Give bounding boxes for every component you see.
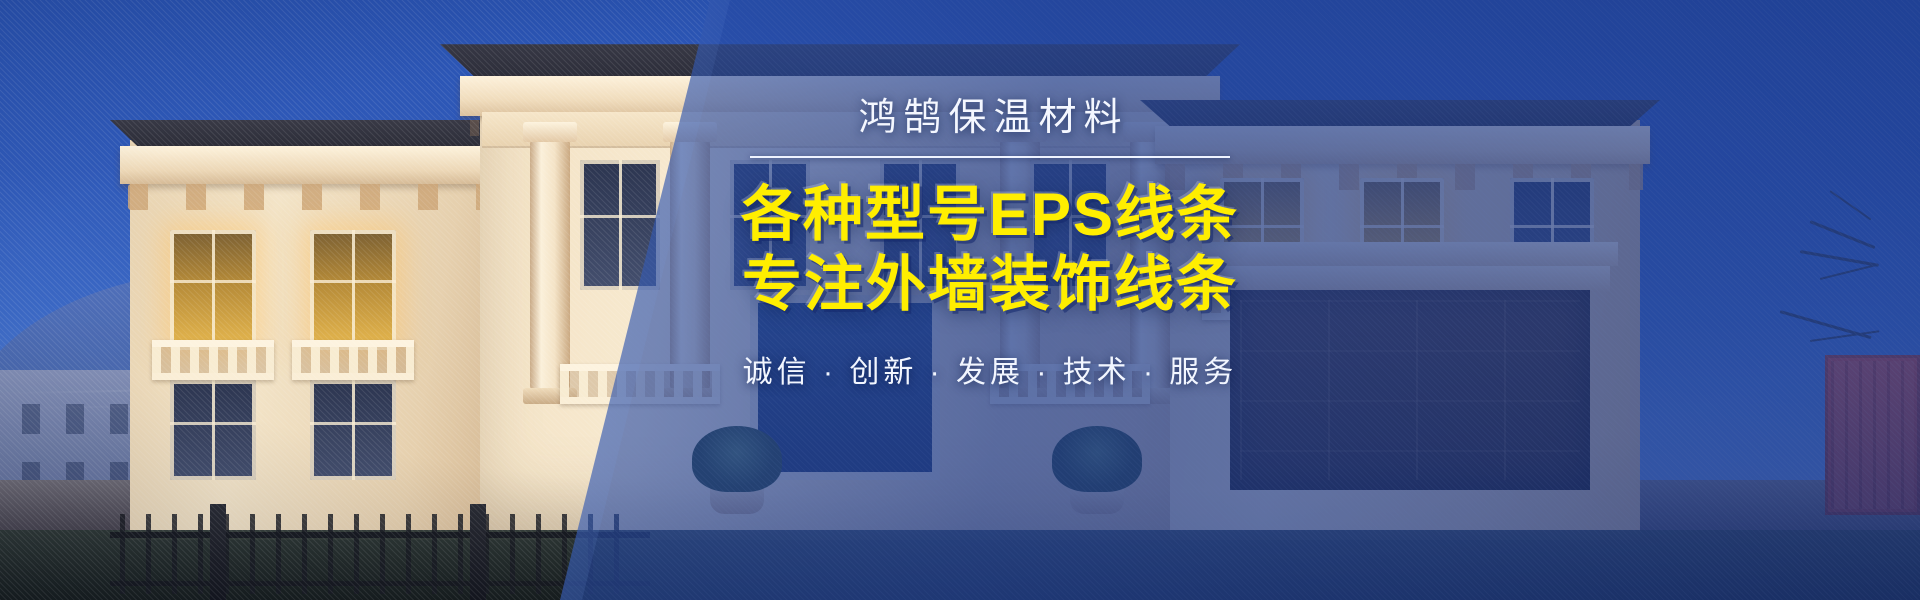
headline-line-2: 专注外墙装饰线条 bbox=[690, 250, 1290, 321]
fence-post-1 bbox=[210, 504, 226, 600]
fence-rail-top bbox=[110, 532, 650, 538]
shrub-right bbox=[1052, 426, 1142, 492]
hero-banner: 鸿鹄保温材料 各种型号EPS线条 专注外墙装饰线条 诚信 · 创新 · 发展 ·… bbox=[0, 0, 1920, 600]
fence-post-2 bbox=[470, 504, 486, 600]
balustrade-left-2 bbox=[292, 340, 414, 380]
balustrade-left-1 bbox=[152, 340, 274, 380]
banner-text-block: 鸿鹄保温材料 各种型号EPS线条 专注外墙装饰线条 诚信 · 创新 · 发展 ·… bbox=[690, 96, 1290, 391]
bare-tree-branches bbox=[1660, 180, 1870, 410]
window-left-1 bbox=[170, 230, 256, 350]
headline-line-1: 各种型号EPS线条 bbox=[690, 180, 1290, 251]
shrub-left bbox=[692, 426, 782, 492]
headline: 各种型号EPS线条 专注外墙装饰线条 bbox=[690, 180, 1290, 322]
left-wing-cornice bbox=[120, 146, 520, 184]
window-center-1 bbox=[580, 160, 660, 290]
window-left-3 bbox=[170, 380, 256, 480]
window-left-4 bbox=[310, 380, 396, 480]
brand-name: 鸿鹄保温材料 bbox=[690, 96, 1290, 142]
garage-panel-grid bbox=[1240, 300, 1580, 480]
left-wing-corbels bbox=[128, 184, 514, 210]
tagline: 诚信 · 创新 · 发展 · 技术 · 服务 bbox=[690, 347, 1290, 391]
title-divider bbox=[750, 156, 1230, 158]
fence-rail-bottom bbox=[110, 581, 650, 586]
column-1 bbox=[530, 140, 570, 390]
window-left-2 bbox=[310, 230, 396, 350]
